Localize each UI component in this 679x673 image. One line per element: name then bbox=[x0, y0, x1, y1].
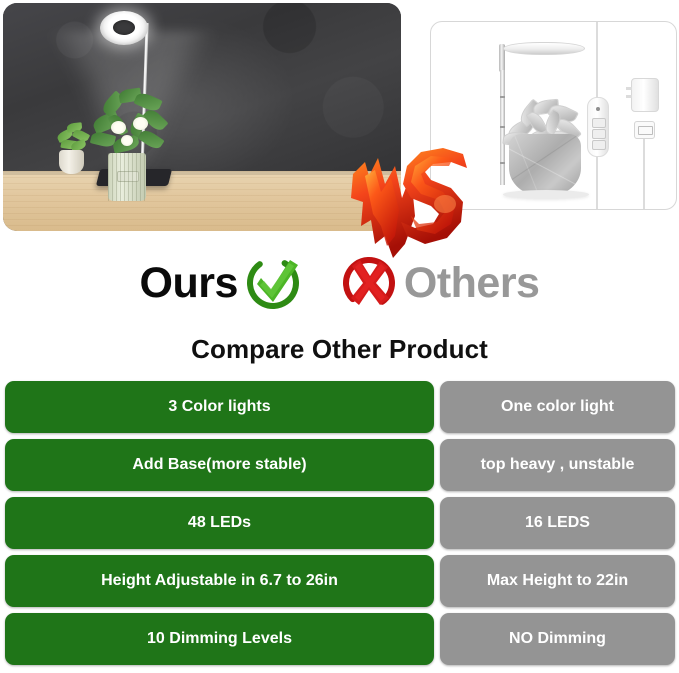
table-row: 48 LEDs 16 LEDS bbox=[0, 497, 679, 549]
others-cell: One color light bbox=[440, 381, 675, 433]
pot-label-tag bbox=[117, 171, 139, 182]
wooden-desk-surface bbox=[3, 171, 401, 231]
hero-comparison-photos bbox=[0, 0, 679, 250]
small-ceramic-pot bbox=[59, 150, 84, 174]
white-flower bbox=[133, 117, 148, 130]
vs-badge bbox=[345, 132, 475, 262]
others-label: Others bbox=[404, 262, 540, 305]
ring-lamp-head bbox=[100, 11, 148, 45]
flowering-plant-foliage bbox=[91, 89, 167, 159]
table-row: 10 Dimming Levels NO Dimming bbox=[0, 613, 679, 665]
faceted-gray-pot bbox=[509, 134, 581, 196]
table-row: Height Adjustable in 6.7 to 26in Max Hei… bbox=[0, 555, 679, 607]
inline-controller bbox=[587, 97, 609, 157]
competitor-lamp-head bbox=[503, 42, 585, 55]
check-circle-icon bbox=[240, 254, 306, 312]
others-cell: Max Height to 22in bbox=[440, 555, 675, 607]
desk-wood-grain bbox=[3, 171, 401, 231]
table-row: Add Base(more stable) top heavy , unstab… bbox=[0, 439, 679, 491]
others-cell: 16 LEDS bbox=[440, 497, 675, 549]
small-plant-foliage bbox=[55, 121, 89, 153]
cross-circle-icon bbox=[336, 254, 402, 312]
ours-cell: 3 Color lights bbox=[5, 381, 434, 433]
others-cell: NO Dimming bbox=[440, 613, 675, 665]
verdict-row: Ours Others bbox=[0, 252, 679, 314]
usb-cable bbox=[643, 130, 645, 209]
ours-product-lifestyle-photo bbox=[3, 3, 401, 231]
page-title: Compare Other Product bbox=[0, 334, 679, 365]
white-flower bbox=[121, 135, 133, 146]
ours-cell: Add Base(more stable) bbox=[5, 439, 434, 491]
table-row: 3 Color lights One color light bbox=[0, 381, 679, 433]
ribbed-planter-pot bbox=[108, 153, 146, 201]
ours-label: Ours bbox=[140, 262, 238, 305]
controller-indicator-led bbox=[596, 107, 600, 111]
white-flower bbox=[111, 121, 126, 134]
usb-connector bbox=[634, 121, 655, 139]
ours-cell: 10 Dimming Levels bbox=[5, 613, 434, 665]
ours-cell: Height Adjustable in 6.7 to 26in bbox=[5, 555, 434, 607]
others-cell: top heavy , unstable bbox=[440, 439, 675, 491]
ours-cell: 48 LEDs bbox=[5, 497, 434, 549]
pot-tray bbox=[503, 190, 589, 199]
wall-adapter-plug bbox=[631, 78, 659, 112]
comparison-table: 3 Color lights One color light Add Base(… bbox=[0, 381, 679, 673]
